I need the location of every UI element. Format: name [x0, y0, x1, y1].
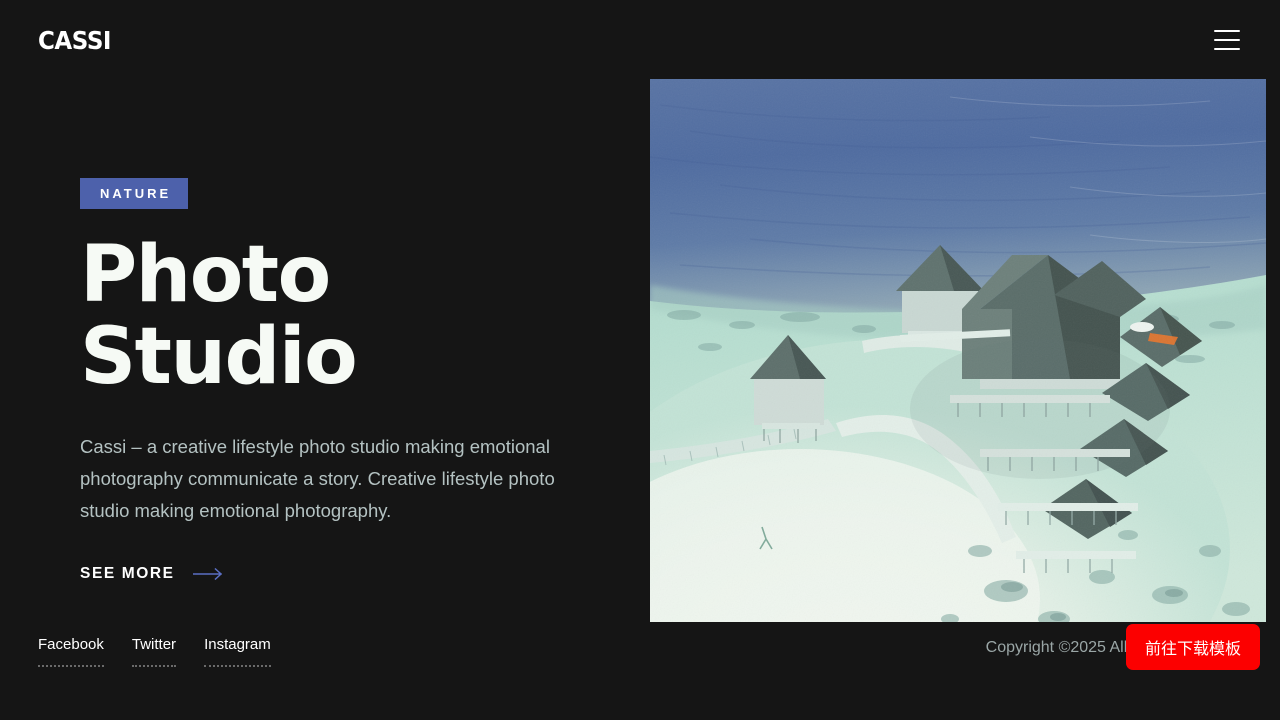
page-title: Photo Studio [80, 235, 620, 399]
social-link-twitter[interactable]: Twitter [132, 637, 176, 667]
hero-image [650, 79, 1266, 622]
menu-bar-2 [1214, 39, 1240, 41]
see-more-button[interactable]: SEE MORE [80, 565, 223, 583]
arrow-right-icon [193, 568, 223, 580]
hamburger-menu-icon[interactable] [1214, 27, 1242, 53]
landing-page: CASSI [0, 0, 1280, 720]
see-more-label: SEE MORE [80, 565, 175, 583]
menu-bar-3 [1214, 48, 1240, 50]
social-link-instagram[interactable]: Instagram [204, 637, 271, 667]
hero-content: NATURE Photo Studio Cassi – a creative l… [80, 178, 620, 583]
site-header: CASSI [0, 0, 1280, 80]
download-template-button[interactable]: 前往下载模板 [1126, 624, 1260, 670]
logo[interactable]: CASSI [38, 28, 111, 53]
social-link-facebook[interactable]: Facebook [38, 637, 104, 667]
site-footer: Facebook Twitter Instagram Copyright ©20… [0, 620, 1280, 720]
social-links: Facebook Twitter Instagram [38, 637, 271, 667]
hero-description: Cassi – a creative lifestyle photo studi… [80, 431, 592, 527]
menu-bar-1 [1214, 30, 1240, 32]
category-badge: NATURE [80, 178, 188, 209]
